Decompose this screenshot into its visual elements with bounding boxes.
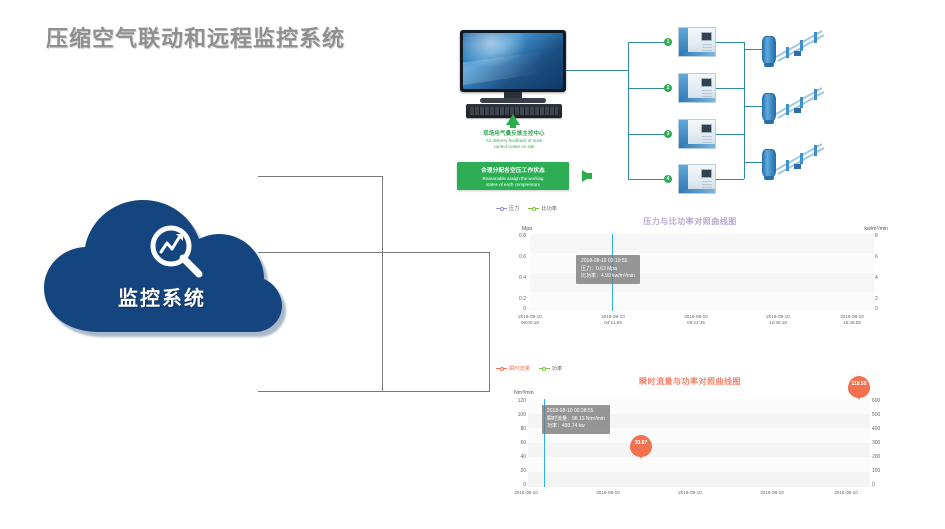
bus-branch-3 xyxy=(628,134,668,135)
chart1-tooltip-time: 2018-08-10 02:19:55 xyxy=(581,258,635,266)
legend-item-specific-power[interactable]: 比功率 xyxy=(528,205,557,212)
slide-canvas: 压缩空气联动和远程监控系统 监控系统 xyxy=(0,0,945,529)
assign-state-cn: 合理分配各空压工作状态 xyxy=(457,166,569,176)
node-2: 2 xyxy=(664,84,672,92)
chart2-ytick-right-0: 600 xyxy=(872,398,888,404)
tank-body xyxy=(762,149,776,177)
chart2-ytick-0: 120 xyxy=(502,398,526,404)
chart2-xtick-2: 2018-08-10 xyxy=(664,490,716,496)
outlet-branch-4 xyxy=(716,179,744,180)
compressor-1 xyxy=(678,27,716,57)
compressor-panel-icon xyxy=(701,32,712,41)
xtick-line2: 16:46:55 xyxy=(826,320,878,326)
xtick-line2: 00:00:15 xyxy=(504,320,556,326)
xtick-line2: 04:11:55 xyxy=(587,320,639,326)
chart1-tooltip-row1: 压力：0.63 Mpa xyxy=(581,266,635,274)
tank-feed-2 xyxy=(744,106,762,107)
monitor-base xyxy=(480,98,546,103)
compressor-vent-icon xyxy=(702,88,712,97)
bus-vertical xyxy=(628,42,629,179)
chart2-xtick-1: 2018-08-10 xyxy=(582,490,634,496)
bus-branch-1 xyxy=(628,42,668,43)
legend-item-pressure[interactable]: 压力 xyxy=(496,205,519,212)
chart2-ytick-right-3: 300 xyxy=(872,440,888,446)
control-center-caption: 现场用气量反馈主控中心 Air delivery feedback of mai… xyxy=(454,130,574,150)
xtick-line1: 2018-08-10 xyxy=(746,490,798,496)
page-title: 压缩空气联动和远程监控系统 xyxy=(46,21,345,53)
chart1-ylabel: Mpa xyxy=(522,226,532,232)
plot-band xyxy=(530,234,874,253)
control-center-caption-cn: 现场用气量反馈主控中心 xyxy=(454,130,574,138)
xtick-line1: 2018-08-10 xyxy=(820,490,872,496)
plot-band xyxy=(528,472,870,487)
chart2-ytick-right-4: 200 xyxy=(872,454,888,460)
chart2-ytick-1: 100 xyxy=(502,412,526,418)
chart2-xtick-3: 2018-08-10 xyxy=(746,490,798,496)
chart2-ytick-right-5: 100 xyxy=(872,468,888,474)
legend-marker-icon xyxy=(528,206,539,212)
outlet-vertical xyxy=(744,42,745,179)
distribution-pipes-1 xyxy=(776,27,828,63)
chart2-xtick-0: 2018-08-10 xyxy=(500,490,552,496)
right-arrow-icon xyxy=(582,170,592,182)
distribution-pipes-2 xyxy=(776,84,828,120)
pin-icon xyxy=(630,435,652,457)
chart1-ytick-3: 0.2 xyxy=(508,296,526,302)
legend-label: 瞬时流量 xyxy=(509,365,530,372)
chart1-ytick-right-1: 6 xyxy=(875,254,885,260)
desktop-monitor-icon xyxy=(460,30,566,112)
chart2-title: 瞬时流量与功率对照曲线图 xyxy=(490,376,890,387)
compressor-vent-icon xyxy=(702,179,712,188)
magnifier-chart-icon xyxy=(146,221,206,281)
tank-cap xyxy=(764,176,774,180)
chart1-ytick-1: 0.6 xyxy=(508,254,526,260)
chart1-ylabel-right: kw/m³/min xyxy=(864,226,888,232)
outlet-branch-3 xyxy=(716,134,744,135)
compressor-panel-icon xyxy=(701,169,712,178)
air-tank-1 xyxy=(762,36,776,64)
control-center-caption-en2: control center on site xyxy=(454,144,574,150)
chart1-ytick-4: 0 xyxy=(508,306,526,312)
node-3: 3 xyxy=(664,130,672,138)
legend-marker-icon xyxy=(539,366,550,372)
connector-line-bottom xyxy=(258,391,490,392)
chart1-tooltip-row2: 比功率：4.99 kw/m³/min xyxy=(581,273,635,281)
legend-item-flow[interactable]: 瞬时流量 xyxy=(496,365,530,372)
legend-item-power[interactable]: 功率 xyxy=(539,365,562,372)
tank-cap xyxy=(764,120,774,124)
tank-feed-3 xyxy=(744,162,762,163)
legend-marker-icon xyxy=(496,366,507,372)
chart1-ytick-right-3: 2 xyxy=(875,296,885,302)
chart-flow-panel: 瞬时流量 功率 瞬时流量与功率对照曲线图 Nm³/min 120 100 80 … xyxy=(490,362,890,522)
compressor-panel-icon xyxy=(701,78,712,87)
compressor-4 xyxy=(678,164,716,194)
chart1-xtick-1: 2018-08-10 04:11:55 xyxy=(587,314,639,326)
tank-body xyxy=(762,36,776,64)
connector-line-top xyxy=(258,176,383,177)
monitor-wallpaper xyxy=(463,33,563,89)
chart2-marker-max[interactable]: 118.55 xyxy=(848,376,870,398)
compressor-2 xyxy=(678,73,716,103)
cloud-label: 监控系统 xyxy=(38,282,286,311)
bus-branch-2 xyxy=(628,88,668,89)
pin-label: 33.87 xyxy=(630,440,652,446)
node-4: 4 xyxy=(664,175,672,183)
system-schematic: 现场用气量反馈主控中心 Air delivery feedback of mai… xyxy=(432,22,932,202)
chart2-ytick-5: 20 xyxy=(502,468,526,474)
up-arrow-icon xyxy=(506,114,520,125)
monitor-bus-link xyxy=(566,70,628,71)
chart2-ytick-2: 80 xyxy=(502,426,526,432)
chart2-ytick-3: 60 xyxy=(502,440,526,446)
chart2-ytick-right-6: 0 xyxy=(872,482,888,488)
chart2-ylabel: Nm³/min xyxy=(514,390,534,396)
chart2-tooltip: 2018-08-10 00:38:55 瞬时流量：98.13 Nm³/min 功… xyxy=(542,405,610,434)
chart2-ytick-6: 0 xyxy=(502,482,526,488)
tank-cap xyxy=(764,63,774,67)
tank-feed-1 xyxy=(744,49,762,50)
bus-branch-4 xyxy=(628,179,668,180)
chart2-tooltip-row1: 瞬时流量：98.13 Nm³/min xyxy=(547,416,605,424)
outlet-branch-2 xyxy=(716,88,744,89)
air-tank-3 xyxy=(762,149,776,177)
compressor-panel-icon xyxy=(701,124,712,133)
chart2-xtick-4: 2018-08-10 xyxy=(820,490,872,496)
assign-state-box: 合理分配各空压工作状态 Reasonable assign the workin… xyxy=(457,162,569,190)
chart1-title: 压力与比功率对照曲线图 xyxy=(490,216,890,227)
chart2-tooltip-row2: 功率：493.74 kw xyxy=(547,423,605,431)
distribution-pipes-3 xyxy=(776,140,828,176)
chart1-legend: 压力 比功率 xyxy=(496,205,557,212)
chart1-ytick-right-4: 0 xyxy=(875,306,885,312)
compressor-vent-icon xyxy=(702,42,712,51)
chart1-ytick-right-2: 4 xyxy=(875,275,885,281)
chart2-tooltip-time: 2018-08-10 00:38:55 xyxy=(547,408,605,416)
monitoring-cloud[interactable]: 监控系统 xyxy=(38,194,290,338)
chart1-xtick-3: 2018-08-10 12:35:15 xyxy=(752,314,804,326)
monitor-screen xyxy=(460,30,566,92)
chart1-ytick-2: 0.4 xyxy=(508,275,526,281)
xtick-line2: 12:35:15 xyxy=(752,320,804,326)
chart1-xtick-2: 2018-08-10 08:23:35 xyxy=(670,314,722,326)
xtick-line1: 2018-08-10 xyxy=(500,490,552,496)
xtick-line1: 2018-08-10 xyxy=(664,490,716,496)
chart1-ytick-0: 0.8 xyxy=(508,233,526,239)
air-tank-2 xyxy=(762,93,776,121)
legend-marker-icon xyxy=(496,206,507,212)
connector-line-vertical-trunk xyxy=(382,176,383,392)
pin-label: 118.55 xyxy=(848,381,870,387)
xtick-line2: 08:23:35 xyxy=(670,320,722,326)
xtick-line1: 2018-08-10 xyxy=(582,490,634,496)
chart2-ytick-right-2: 400 xyxy=(872,426,888,432)
chart2-marker-min[interactable]: 33.87 xyxy=(630,435,652,457)
legend-label: 功率 xyxy=(552,365,562,372)
compressor-3 xyxy=(678,119,716,149)
chart2-ytick-right-1: 500 xyxy=(872,412,888,418)
chart2-ytick-4: 40 xyxy=(502,454,526,460)
legend-label: 压力 xyxy=(509,205,519,212)
chart1-xtick-0: 2018-08-10 00:00:15 xyxy=(504,314,556,326)
chart1-tooltip: 2018-08-10 02:19:55 压力：0.63 Mpa 比功率：4.99… xyxy=(576,255,640,284)
chart1-xtick-4: 2018-08-10 16:46:55 xyxy=(826,314,878,326)
chart-pressure-panel: 压力 比功率 压力与比功率对照曲线图 Mpa kw/m³/min 0.8 0.6… xyxy=(490,200,890,336)
legend-label: 比功率 xyxy=(541,205,557,212)
assign-state-en2: states of each compressors xyxy=(457,182,569,188)
pin-icon xyxy=(848,376,870,398)
plot-band xyxy=(528,443,870,458)
node-1: 1 xyxy=(664,38,672,46)
compressor-vent-icon xyxy=(702,134,712,143)
chart1-ytick-right-0: 8 xyxy=(875,233,885,239)
outlet-branch-1 xyxy=(716,42,744,43)
tank-body xyxy=(762,93,776,121)
chart2-legend: 瞬时流量 功率 xyxy=(496,365,562,372)
